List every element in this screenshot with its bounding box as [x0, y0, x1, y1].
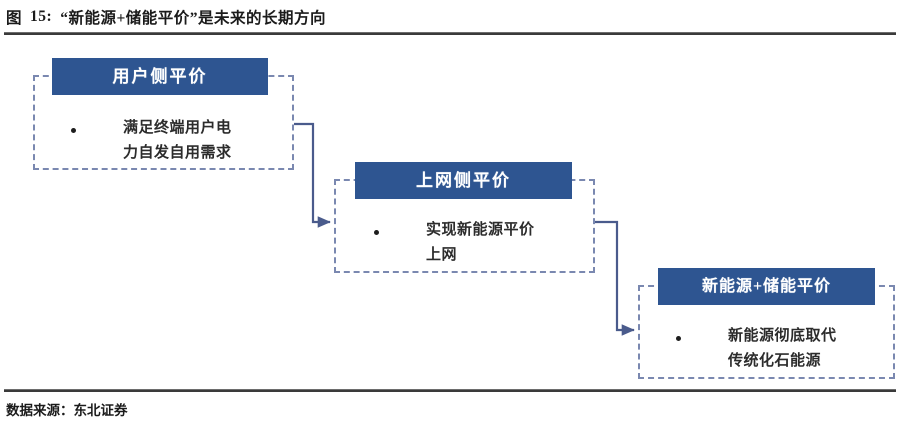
node-body-text-storage-parity: 新能源彻底取代 传统化石能源	[728, 324, 898, 374]
node-text-line: 实现新能源平价	[426, 218, 596, 243]
node-header-storage-parity: 新能源+储能平价	[658, 268, 875, 305]
node-text-line: 新能源彻底取代	[728, 324, 898, 349]
connector-user-side-to-grid-side	[294, 124, 330, 222]
figure-number: 15:	[30, 8, 52, 26]
flow-node-storage-parity[interactable]: 新能源+储能平价 新能源彻底取代 传统化石能源	[638, 268, 895, 379]
title-divider-rule	[4, 32, 896, 35]
node-body-text-user-side: 满足终端用户电 力自发自用需求	[123, 116, 293, 166]
bullet-point-icon	[676, 336, 681, 341]
figure-title: 图 15: “新能源+储能平价”是未来的长期方向	[6, 6, 894, 28]
node-text-line: 上网	[426, 243, 596, 268]
connector-grid-side-to-storage-parity	[595, 222, 634, 330]
node-text-line: 传统化石能源	[728, 349, 898, 374]
node-text-line: 力自发自用需求	[123, 141, 293, 166]
figure-title-text: “新能源+储能平价”是未来的长期方向	[60, 6, 326, 28]
figure-source-label: 数据来源：东北证券	[6, 399, 128, 419]
flow-node-grid-side[interactable]: 上网侧平价 实现新能源平价 上网	[334, 162, 595, 273]
flow-diagram: 用户侧平价 满足终端用户电 力自发自用需求 上网侧平价 实现新能源平价 上网 新…	[0, 36, 900, 386]
bullet-point-icon	[374, 230, 379, 235]
node-header-grid-side: 上网侧平价	[355, 162, 572, 199]
node-text-line: 满足终端用户电	[123, 116, 293, 141]
source-divider-rule	[4, 389, 896, 392]
node-header-user-side: 用户侧平价	[52, 58, 268, 95]
bullet-point-icon	[71, 128, 76, 133]
node-body-text-grid-side: 实现新能源平价 上网	[426, 218, 596, 268]
figure-label: 图	[6, 6, 22, 28]
flow-node-user-side[interactable]: 用户侧平价 满足终端用户电 力自发自用需求	[33, 58, 294, 170]
